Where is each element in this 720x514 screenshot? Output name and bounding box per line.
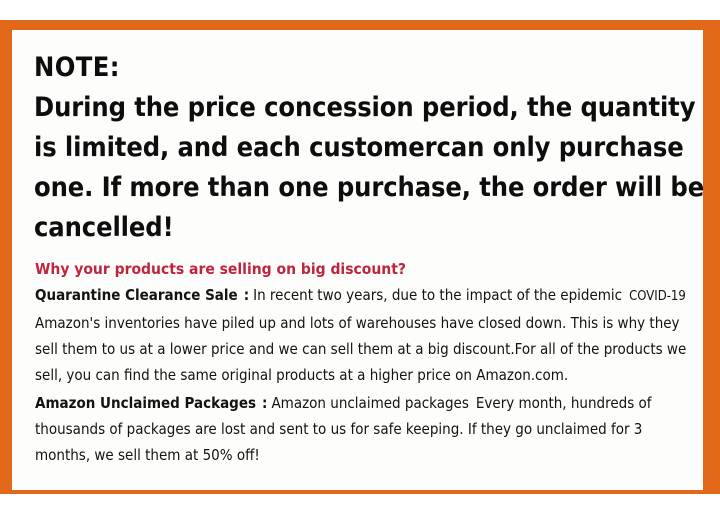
section-text-unclaimed-before: Amazon unclaimed packages bbox=[271, 394, 468, 412]
headline-line-4: cancelled! bbox=[34, 208, 693, 248]
section-label-quarantine: Quarantine Clearance Sale bbox=[35, 286, 238, 304]
discount-question-heading: Why your products are selling on big dis… bbox=[35, 258, 693, 280]
covid-19-abbreviation: COVID-19 bbox=[622, 289, 686, 304]
section-text-quarantine-after: Amazon's inventories have piled up and l… bbox=[35, 314, 686, 384]
headline-line-2: is limited, and each customercan only pu… bbox=[34, 128, 693, 168]
section-amazon-unclaimed-packages: Amazon Unclaimed Packages:Amazon unclaim… bbox=[35, 390, 693, 468]
section-colon-quarantine: : bbox=[238, 286, 253, 304]
section-colon-unclaimed: : bbox=[256, 394, 271, 412]
section-quarantine-clearance-sale: Quarantine Clearance Sale:In recent two … bbox=[35, 282, 693, 388]
section-label-unclaimed: Amazon Unclaimed Packages bbox=[35, 394, 256, 412]
notice-banner: NOTE: During the price concession period… bbox=[0, 20, 720, 494]
notice-panel: NOTE: During the price concession period… bbox=[12, 30, 703, 490]
headline-note-label: NOTE: bbox=[34, 48, 693, 88]
section-text-quarantine-before: In recent two years, due to the impact o… bbox=[253, 286, 622, 304]
headline-line-1: During the price concession period, the … bbox=[34, 88, 693, 128]
headline-line-3: one. If more than one purchase, the orde… bbox=[34, 168, 693, 208]
